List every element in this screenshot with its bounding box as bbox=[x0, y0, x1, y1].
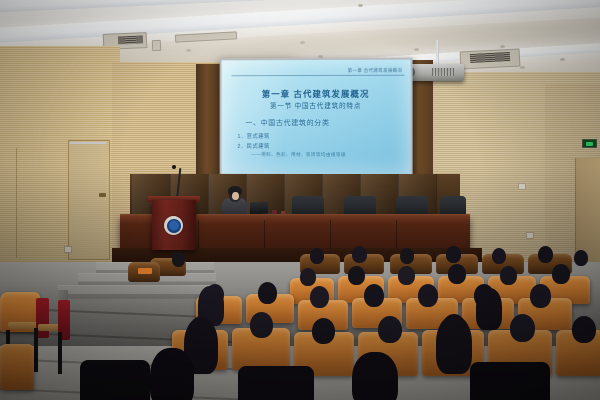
ceiling-downlight bbox=[520, 66, 525, 69]
audience-head bbox=[312, 318, 335, 344]
audience-head bbox=[348, 266, 365, 285]
audience-foreground bbox=[80, 360, 150, 400]
seat-leg bbox=[34, 328, 38, 372]
ceiling-air-vent bbox=[152, 40, 161, 51]
audience-head bbox=[352, 246, 367, 263]
audience-head bbox=[310, 248, 324, 264]
desk-panel-seam bbox=[198, 220, 199, 250]
ceiling-downlight bbox=[500, 45, 505, 48]
slide-list-item: 2．民式建筑 bbox=[237, 142, 269, 150]
ceiling-downlight bbox=[560, 58, 565, 61]
exit-sign bbox=[582, 139, 597, 148]
ceiling-downlight bbox=[186, 49, 191, 52]
aisle-step bbox=[58, 285, 218, 299]
audience-head bbox=[258, 282, 277, 304]
audience-head bbox=[574, 250, 588, 266]
door-frame-left-edge bbox=[0, 148, 17, 258]
audience-head bbox=[400, 248, 414, 264]
audience-long-hair bbox=[150, 348, 194, 400]
slide-title-line1: 第一章 古代建筑发展概况 bbox=[222, 88, 411, 100]
seat-object bbox=[138, 268, 152, 274]
seat-leg bbox=[58, 332, 62, 374]
audience-head bbox=[172, 252, 185, 267]
ceiling-air-vent-grille bbox=[118, 35, 143, 44]
audience-head bbox=[572, 316, 596, 343]
audience-long-hair bbox=[476, 288, 502, 330]
audience-foreground bbox=[470, 362, 550, 400]
audience-head bbox=[538, 246, 553, 263]
audience-head bbox=[310, 286, 329, 308]
auditorium-seat-empty[interactable] bbox=[0, 344, 34, 390]
microphone-head-icon bbox=[172, 165, 176, 169]
audience-head bbox=[492, 248, 506, 264]
projector-mount-pole bbox=[436, 40, 439, 66]
door-left[interactable] bbox=[68, 140, 110, 260]
audience-head bbox=[500, 266, 517, 285]
audience-head bbox=[378, 316, 402, 343]
audience-long-hair bbox=[352, 352, 398, 400]
audience-head bbox=[446, 246, 461, 263]
audience-head bbox=[364, 284, 384, 307]
desk-panel-seam bbox=[396, 220, 397, 250]
slide-title-line2: 第一节 中国古代建筑的特点 bbox=[222, 100, 411, 110]
wall-socket bbox=[518, 183, 526, 190]
exit-sign-glyph bbox=[586, 142, 593, 146]
slide-list-item: 1．官式建筑 bbox=[237, 132, 269, 140]
wall-socket bbox=[64, 246, 72, 253]
ceiling-downlight bbox=[358, 4, 363, 7]
slide-subnote: ——用料、色彩、用材、装饰等均由规等级 bbox=[251, 152, 346, 158]
crest-inner bbox=[167, 219, 181, 233]
desk-panel-seam bbox=[330, 220, 331, 250]
audience-head bbox=[250, 312, 273, 338]
door-handle-icon[interactable] bbox=[99, 193, 106, 197]
university-crest-icon bbox=[164, 216, 183, 235]
audience-head bbox=[552, 264, 570, 284]
audience-head bbox=[398, 266, 415, 285]
audience-head bbox=[418, 284, 438, 307]
slide-header: 第一章 古代建筑发展概况 bbox=[348, 68, 403, 74]
projection-screen: 第一章 古代建筑发展概况 第一章 古代建筑发展概况 第一节 中国古代建筑的特点 … bbox=[222, 60, 411, 175]
door-top-trim bbox=[70, 142, 106, 144]
lecture-hall-photo: 第一章 古代建筑发展概况 第一章 古代建筑发展概况 第一节 中国古代建筑的特点 … bbox=[0, 0, 600, 400]
desk-panel-seam bbox=[264, 220, 265, 250]
ceiling-downlight bbox=[300, 41, 305, 44]
ceiling-downlight bbox=[414, 48, 419, 51]
audience-head bbox=[510, 314, 535, 342]
presenter-face bbox=[232, 192, 239, 200]
wall-socket bbox=[526, 232, 534, 239]
slide-body-heading: 一、中国古代建筑的分类 bbox=[245, 118, 329, 128]
audience-head bbox=[448, 264, 466, 284]
audience-head bbox=[530, 284, 551, 308]
projector-vent bbox=[432, 68, 454, 76]
audience-long-hair bbox=[436, 316, 472, 374]
audience-foreground bbox=[238, 366, 314, 400]
audience-head bbox=[300, 268, 316, 286]
